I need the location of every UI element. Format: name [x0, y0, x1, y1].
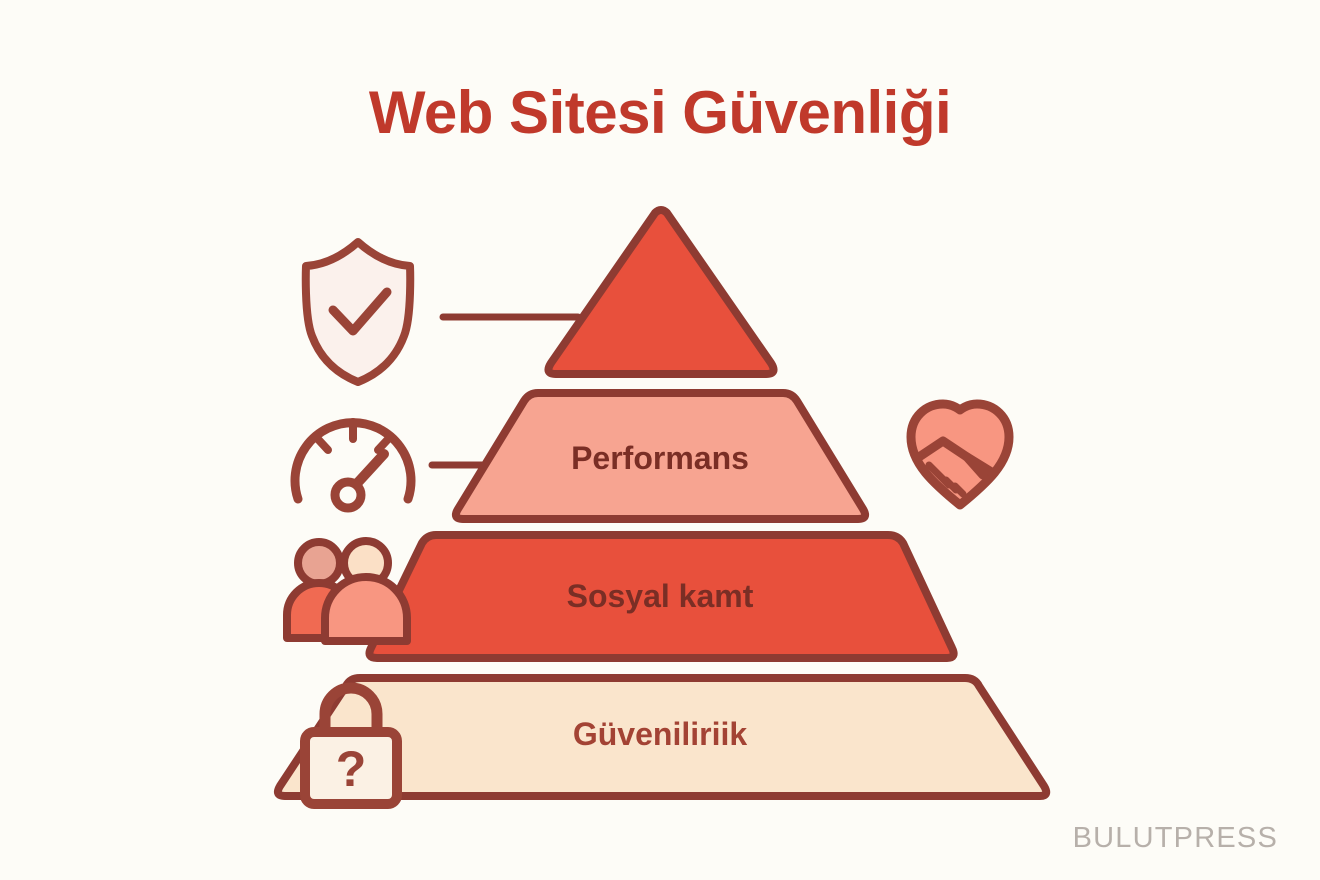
shield-body [306, 242, 410, 382]
speedometer-icon [295, 422, 411, 508]
pyramid-level-1-shape[interactable] [456, 393, 865, 519]
watermark: BULUTPRESS [1073, 822, 1278, 855]
speedometer-hub [335, 482, 361, 508]
pyramid-level-0-shape[interactable] [548, 210, 773, 374]
speedometer-tick-right [378, 437, 390, 450]
people-front-body [325, 577, 407, 641]
infographic-canvas: Web Sitesi Güvenliği [0, 0, 1320, 880]
people-icon [287, 541, 407, 641]
lock-question-glyph: ? [336, 741, 367, 797]
people-back-head [298, 542, 340, 584]
pyramid-level-0[interactable] [548, 210, 773, 374]
pyramid-diagram: ? [0, 0, 1320, 880]
pyramid-level-1[interactable] [456, 393, 865, 519]
heart-handshake-icon [911, 404, 1009, 505]
speedometer-tick-left [316, 437, 328, 450]
pyramid-level-2-shape[interactable] [369, 535, 953, 658]
shield-check-icon [306, 242, 410, 382]
pyramid-level-2[interactable] [369, 535, 953, 658]
